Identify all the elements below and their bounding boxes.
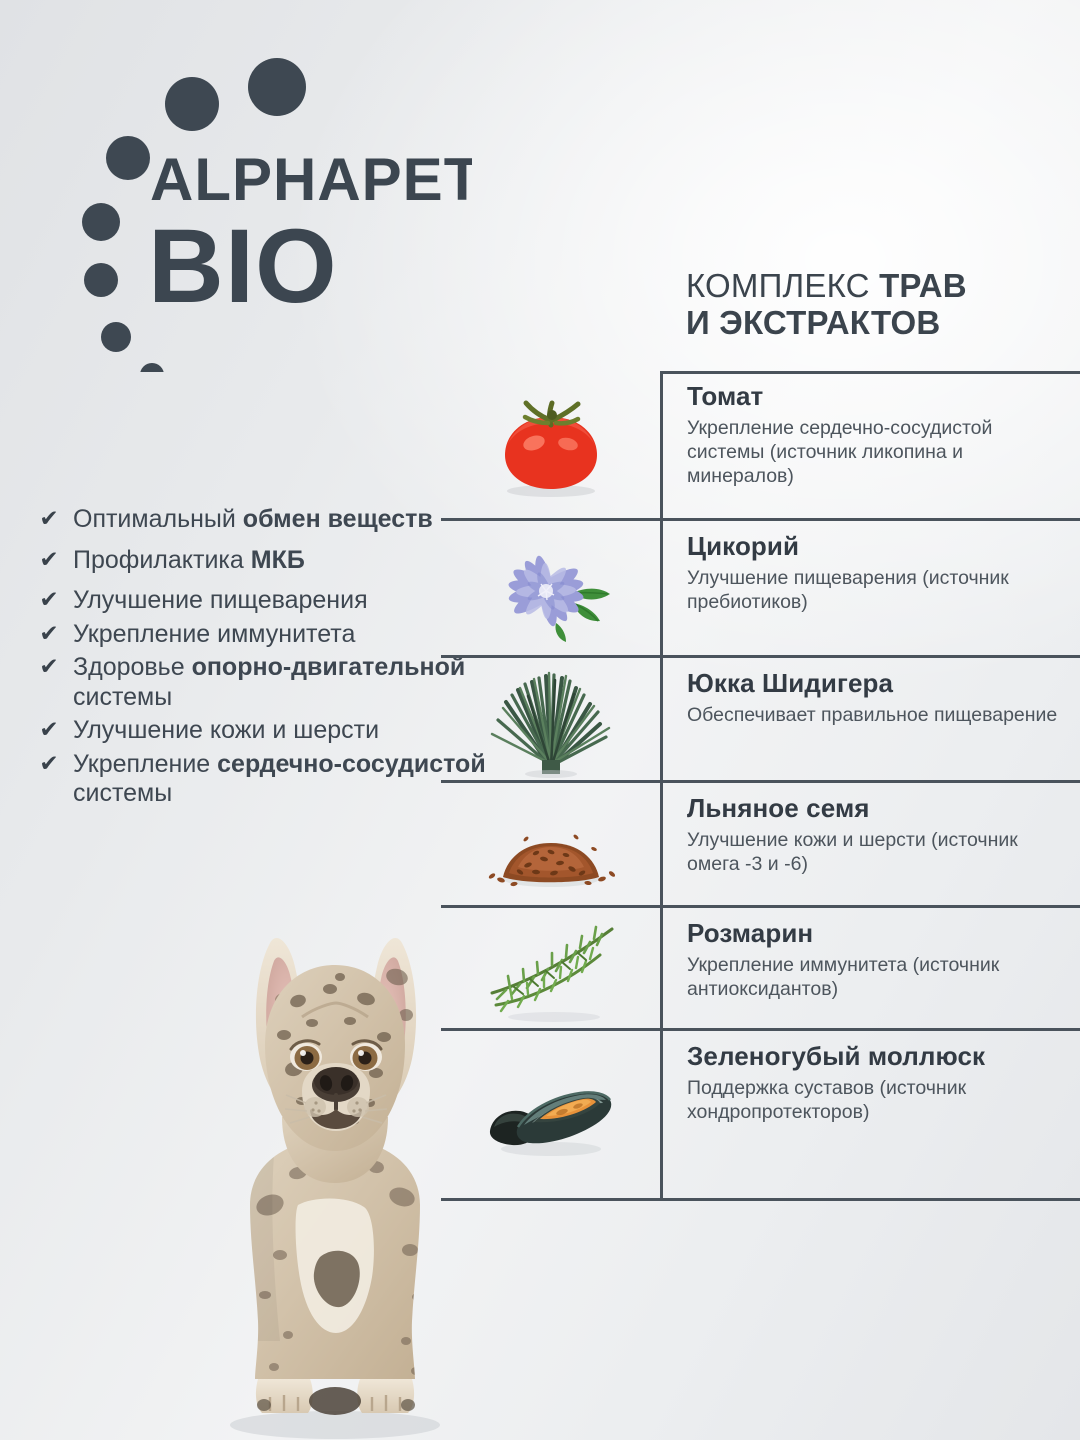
table-row: Зеленогубый моллюск Поддержка суставов (…	[441, 1031, 1080, 1201]
benefit-text: Улучшение кожи и шерсти	[73, 716, 379, 746]
yucca-plant-image	[476, 662, 626, 780]
benefit-item: ✔ Профилактика МКБ	[38, 546, 508, 576]
ingredients-table: Томат Укрепление сердечно-сосудистой сис…	[441, 371, 1080, 1201]
benefit-text-suffix: системы	[73, 683, 172, 711]
ingredient-image-cell	[441, 783, 660, 908]
check-icon: ✔	[38, 620, 60, 646]
ingredient-image-cell	[441, 521, 660, 658]
benefit-text-bold: МКБ	[251, 546, 305, 574]
benefit-text-bold: опорно-двигательной	[192, 653, 466, 681]
chicory-flower-image	[476, 531, 626, 649]
check-icon: ✔	[38, 653, 60, 679]
ingredient-description: Улучшение кожи и шерсти (источник омега …	[687, 828, 1066, 876]
ingredient-text-cell: Льняное семя Улучшение кожи и шерсти (ис…	[660, 783, 1080, 908]
flax-seed-image	[476, 787, 626, 905]
check-icon: ✔	[38, 505, 60, 531]
benefit-item: ✔ Оптимальный обмен веществ	[38, 505, 508, 535]
section-title-line1-bold: ТРАВ	[879, 267, 967, 304]
table-row: Цикорий Улучшение пищеварения (источник …	[441, 521, 1080, 658]
ingredient-text-cell: Зеленогубый моллюск Поддержка суставов (…	[660, 1031, 1080, 1201]
ingredient-description: Поддержка суставов (источник хондропроте…	[687, 1076, 1066, 1124]
ingredient-text-cell: Юкка Шидигера Обеспечивает правильное пи…	[660, 658, 1080, 783]
logo-text-alphapet: ALPHAPET	[150, 146, 472, 213]
ingredient-text-cell: Цикорий Улучшение пищеварения (источник …	[660, 521, 1080, 658]
section-title-line2: И ЭКСТРАКТОВ	[686, 305, 1066, 342]
ingredient-name: Зеленогубый моллюск	[687, 1042, 1066, 1071]
check-icon: ✔	[38, 546, 60, 572]
ingredient-name: Юкка Шидигера	[687, 669, 1066, 698]
benefit-item: ✔ Здоровье опорно-двигательной системы	[38, 653, 508, 712]
check-icon: ✔	[38, 716, 60, 742]
ingredient-description: Укрепление иммунитета (источник антиокси…	[687, 953, 1066, 1001]
benefit-text-prefix: Профилактика	[73, 546, 251, 574]
benefit-item: ✔ Улучшение пищеварения	[38, 586, 508, 616]
section-title-line1: КОМПЛЕКС ТРАВ	[686, 268, 1066, 305]
ingredient-image-cell	[441, 371, 660, 521]
table-row: Томат Укрепление сердечно-сосудистой сис…	[441, 371, 1080, 521]
section-title: КОМПЛЕКС ТРАВ И ЭКСТРАКТОВ	[686, 268, 1066, 342]
benefit-text-prefix: Укрепление	[73, 750, 217, 778]
logo-text-bio: BIO	[148, 208, 338, 325]
check-icon: ✔	[38, 750, 60, 776]
benefit-text: Профилактика МКБ	[73, 546, 305, 576]
ingredient-name: Томат	[687, 382, 1066, 411]
ingredient-description: Укрепление сердечно-сосудистой системы (…	[687, 416, 1066, 489]
tomato-image	[476, 387, 626, 505]
benefit-item: ✔ Укрепление сердечно-сосудистой системы	[38, 750, 508, 809]
dog-photo	[170, 905, 500, 1440]
ingredient-name: Льняное семя	[687, 794, 1066, 823]
benefit-text-prefix: Оптимальный	[73, 505, 243, 533]
dog-head	[265, 957, 405, 1151]
table-row: Юкка Шидигера Обеспечивает правильное пи…	[441, 658, 1080, 783]
ingredient-text-cell: Розмарин Укрепление иммунитета (источник…	[660, 908, 1080, 1031]
benefit-text-prefix: Укрепление иммунитета	[73, 620, 355, 648]
ingredient-name: Розмарин	[687, 919, 1066, 948]
brand-logo: ALPHAPET BIO	[72, 52, 472, 372]
benefits-list: ✔ Оптимальный обмен веществ ✔ Профилакти…	[38, 505, 508, 813]
benefit-text-prefix: Улучшение пищеварения	[73, 586, 368, 614]
benefit-text: Улучшение пищеварения	[73, 586, 368, 616]
benefit-item: ✔ Улучшение кожи и шерсти	[38, 716, 508, 746]
ingredient-name: Цикорий	[687, 532, 1066, 561]
benefit-text: Укрепление иммунитета	[73, 620, 355, 650]
ingredient-image-cell	[441, 658, 660, 783]
table-row: Льняное семя Улучшение кожи и шерсти (ис…	[441, 783, 1080, 908]
ingredient-description: Обеспечивает правильное пищеварение	[687, 703, 1066, 727]
benefit-text: Оптимальный обмен веществ	[73, 505, 433, 535]
table-row: Розмарин Укрепление иммунитета (источник…	[441, 908, 1080, 1031]
ingredient-text-cell: Томат Укрепление сердечно-сосудистой сис…	[660, 371, 1080, 521]
benefit-text-prefix: Здоровье	[73, 653, 192, 681]
benefit-text-suffix: системы	[73, 779, 172, 807]
check-icon: ✔	[38, 586, 60, 612]
benefit-text-prefix: Улучшение кожи и шерсти	[73, 716, 379, 744]
section-title-line1-regular: КОМПЛЕКС	[686, 267, 879, 304]
ingredient-description: Улучшение пищеварения (источник пребиоти…	[687, 566, 1066, 614]
benefit-item: ✔ Укрепление иммунитета	[38, 620, 508, 650]
infographic-page: ALPHAPET BIO КОМПЛЕКС ТРАВ И ЭКСТРАКТОВ …	[0, 0, 1080, 1440]
table-bottom-rule	[441, 1198, 1080, 1201]
benefit-text-bold: обмен веществ	[243, 505, 433, 533]
